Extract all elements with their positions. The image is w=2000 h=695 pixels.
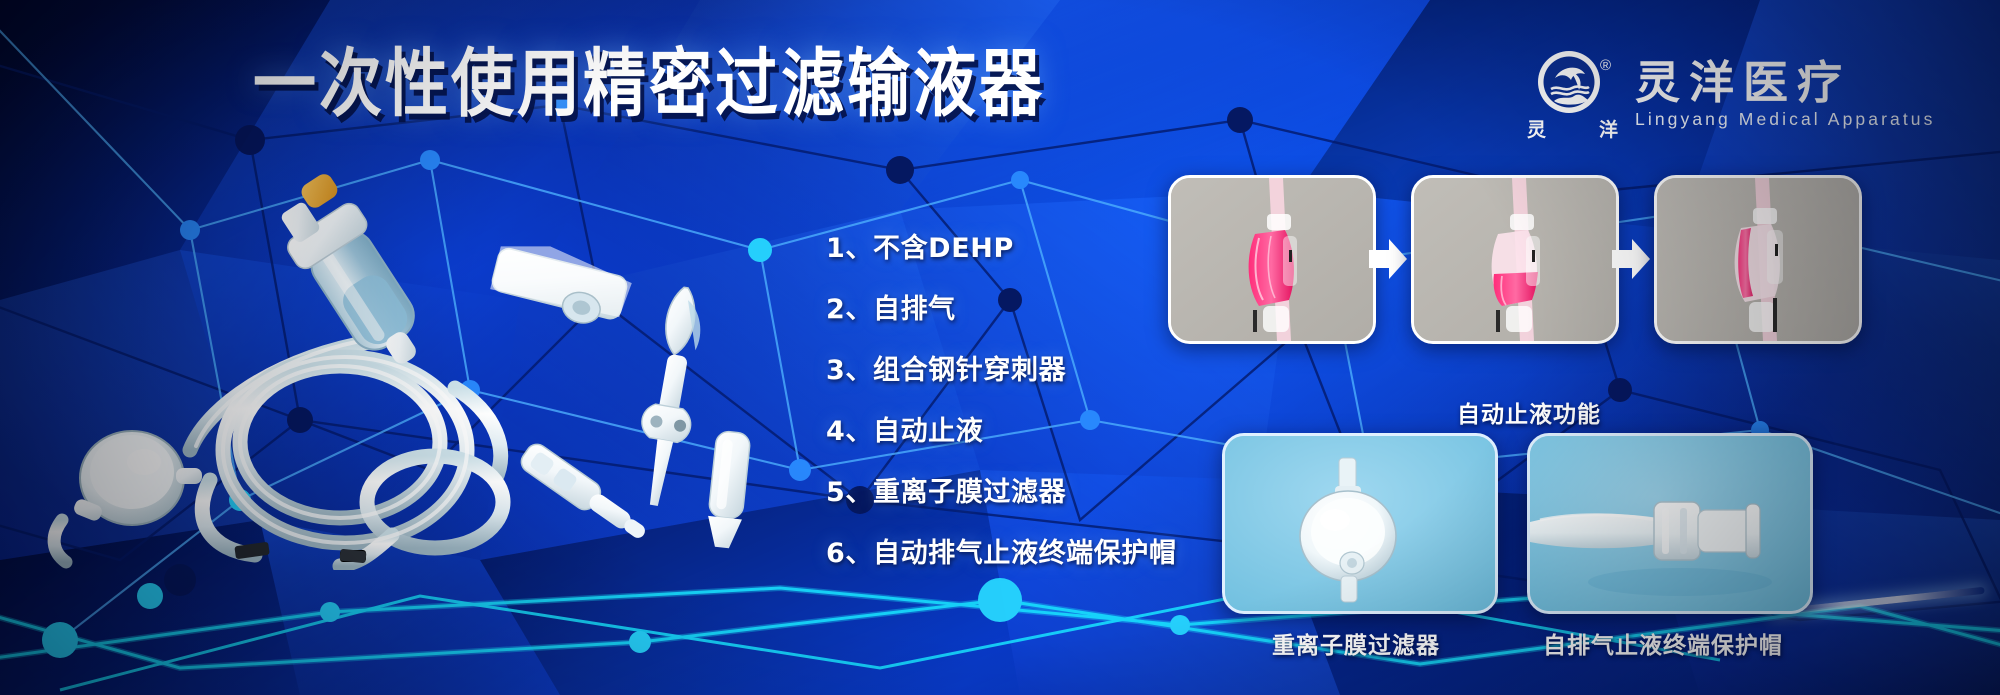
product-banner: 一次性使用精密过滤输液器 ® 灵 洋 灵洋医疗 Lingyang Medical… xyxy=(0,0,2000,695)
vignette-overlay xyxy=(0,0,2000,695)
